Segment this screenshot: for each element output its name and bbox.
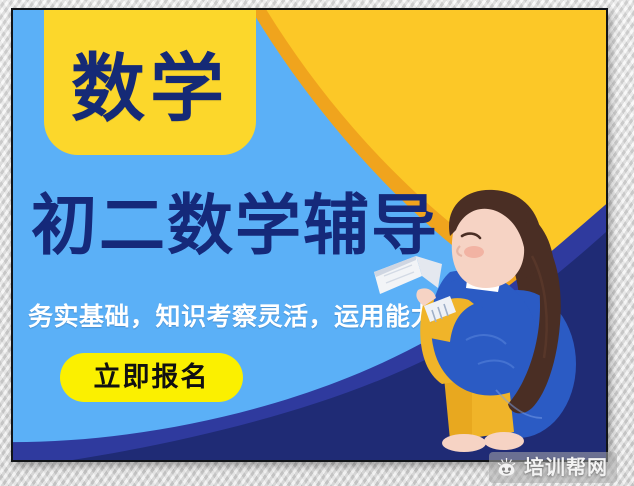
sun-smiley-icon (496, 457, 517, 478)
subject-badge-label: 数学 (71, 36, 229, 126)
enroll-now-label: 立即报名 (94, 364, 210, 391)
foot-left (442, 434, 486, 452)
watermark-label: 培训帮网 (524, 458, 608, 478)
woman-reading-book-illustration (346, 160, 596, 460)
enroll-now-button[interactable]: 立即报名 (60, 353, 243, 402)
site-watermark: 培训帮网 (489, 452, 617, 483)
book-page-left (374, 256, 422, 294)
cheek-blush (464, 246, 484, 258)
course-promo-banner: 数学 初二数学辅导 务实基础，知识考察灵活，运用能力提升 立即报名 (11, 8, 608, 462)
subject-badge: 数学 (44, 8, 256, 155)
foot-right (484, 432, 524, 450)
